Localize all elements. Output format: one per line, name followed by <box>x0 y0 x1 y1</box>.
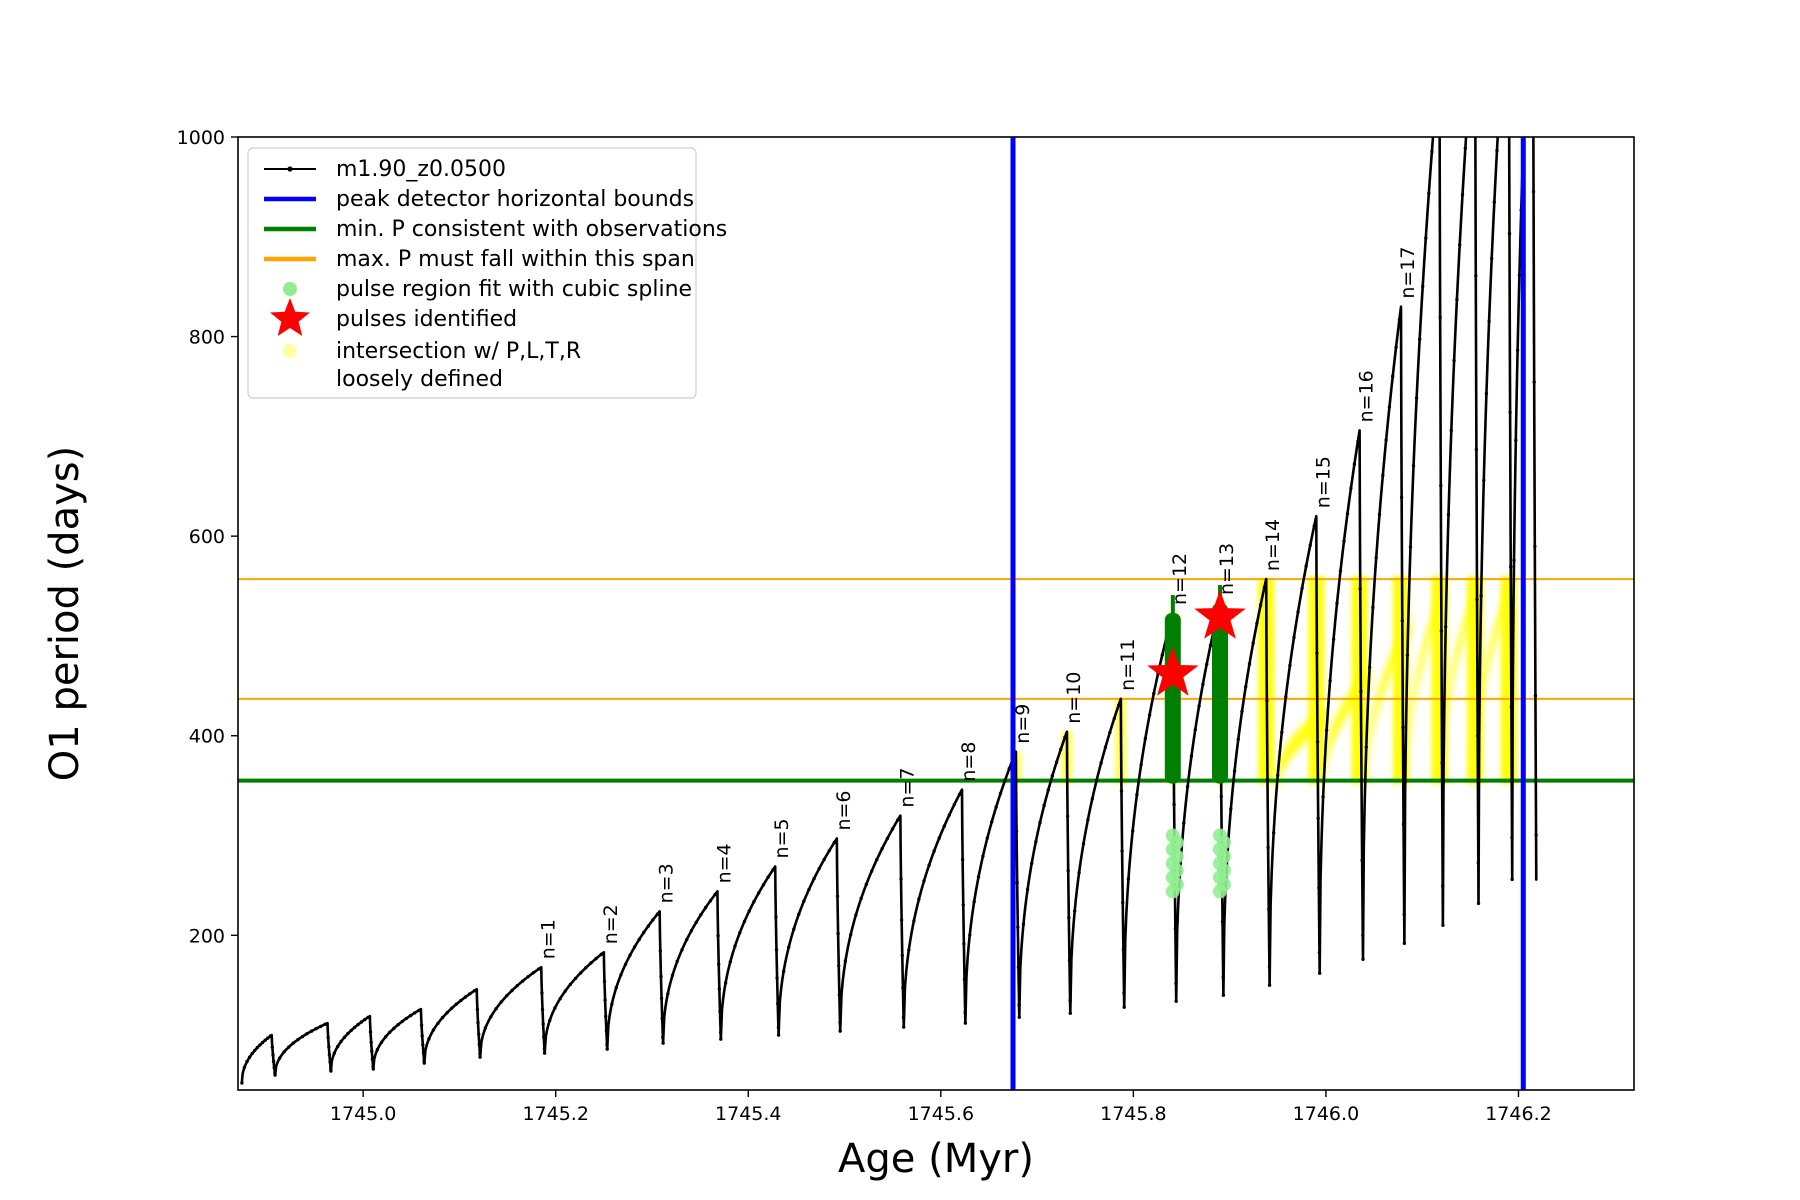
x-axis-label: Age (Myr) <box>838 1136 1034 1182</box>
pulse-label-n11: n=11 <box>1117 639 1139 691</box>
y-tick-label: 400 <box>189 726 225 748</box>
pulse-label-n13: n=13 <box>1216 543 1238 595</box>
figure-canvas: n=1n=2n=3n=4n=5n=6n=7n=8n=9n=10n=11n=12n… <box>0 0 1800 1200</box>
x-tick-label: 1745.8 <box>1100 1103 1166 1125</box>
legend-label: peak detector horizontal bounds <box>336 187 694 212</box>
pulse-label-n15: n=15 <box>1312 456 1334 508</box>
pulse-label-n17: n=17 <box>1397 247 1419 299</box>
pulse-label-n10: n=10 <box>1063 672 1085 724</box>
legend-label-secondary: loosely defined <box>336 367 503 392</box>
legend-label: intersection w/ P,L,T,R <box>336 339 581 364</box>
legend-label: min. P consistent with observations <box>336 217 727 242</box>
matplotlib-figure: n=1n=2n=3n=4n=5n=6n=7n=8n=9n=10n=11n=12n… <box>0 0 1800 1200</box>
legend-entry-4: pulse region fit with cubic spline <box>283 277 692 302</box>
pulse-label-n2: n=2 <box>600 904 622 944</box>
legend-label: m1.90_z0.0500 <box>336 157 506 182</box>
pulse-label-n3: n=3 <box>656 863 678 903</box>
legend-label: max. P must fall within this span <box>336 247 695 272</box>
y-tick-label: 600 <box>189 526 225 548</box>
y-axis-label: O1 period (days) <box>42 446 88 781</box>
legend-label: pulses identified <box>336 307 517 332</box>
legend: m1.90_z0.0500peak detector horizontal bo… <box>248 148 727 398</box>
x-tick-label: 1745.4 <box>715 1103 781 1125</box>
legend-label: pulse region fit with cubic spline <box>336 277 692 302</box>
y-tick-label: 200 <box>189 925 225 947</box>
pulse-label-n9: n=9 <box>1012 704 1034 744</box>
x-tick-label: 1746.0 <box>1293 1103 1359 1125</box>
pulse-label-n4: n=4 <box>713 843 735 883</box>
x-tick-label: 1745.0 <box>330 1103 396 1125</box>
pulse-label-n6: n=6 <box>833 790 855 830</box>
x-tick-label: 1745.6 <box>908 1103 974 1125</box>
x-tick-label: 1745.2 <box>522 1103 588 1125</box>
y-tick-label: 800 <box>189 327 225 349</box>
pulse-label-n16: n=16 <box>1356 370 1378 422</box>
pulse-label-n14: n=14 <box>1262 519 1284 571</box>
pulse-label-n8: n=8 <box>958 742 980 782</box>
x-tick-label: 1746.2 <box>1485 1103 1551 1125</box>
pulse-label-n7: n=7 <box>896 768 918 808</box>
pulse-label-n5: n=5 <box>771 818 793 858</box>
pulse-label-n1: n=1 <box>537 919 559 959</box>
y-tick-label: 1000 <box>177 127 225 149</box>
pulse-label-n12: n=12 <box>1169 553 1191 605</box>
